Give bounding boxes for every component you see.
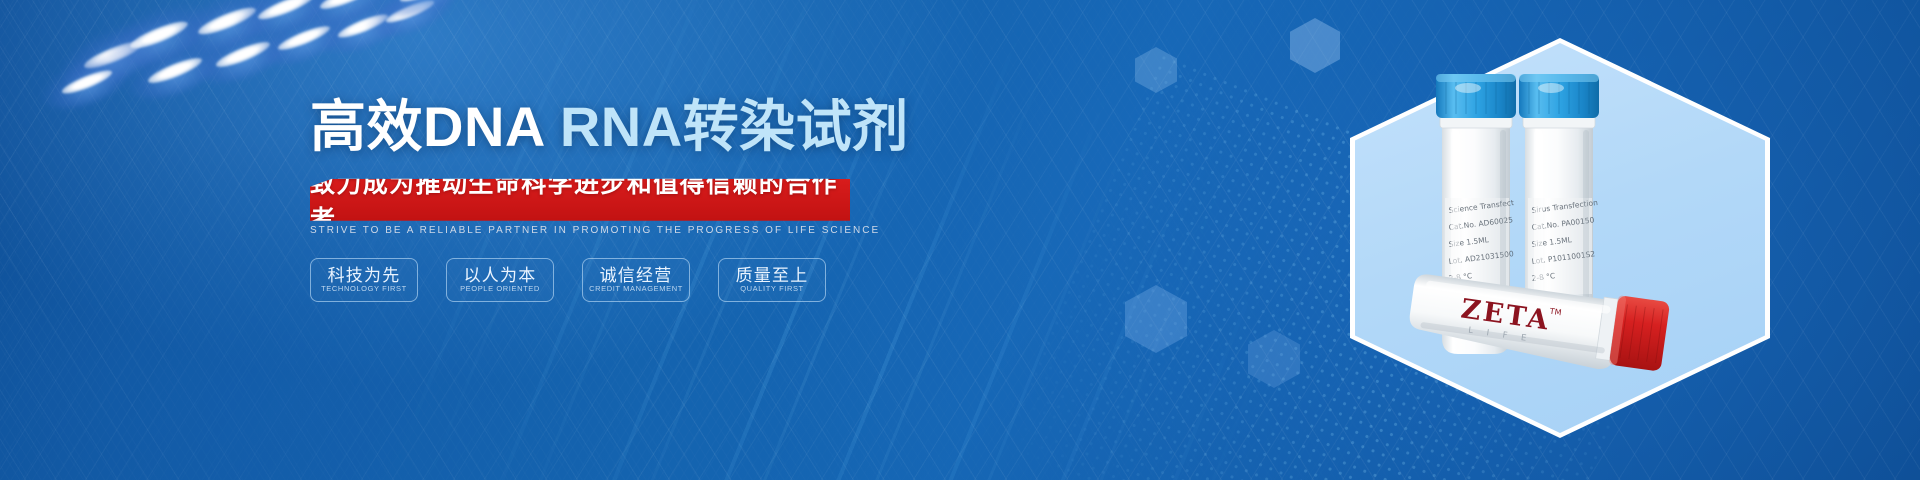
feature-pill-people-oriented[interactable]: 以人为本 PEOPLE ORIENTED (446, 258, 554, 302)
title-segment-white: 高效DNA (310, 95, 560, 158)
slogan-english: STRIVE TO BE A RELIABLE PARTNER IN PROMO… (310, 225, 850, 236)
slogan-ribbon: 致力成为推动生命科学进步和值得信赖的合作者 (310, 179, 850, 221)
feature-pill-label-cn: 科技为先 (328, 267, 401, 284)
banner-content: 高效DNA RNA转染试剂 致力成为推动生命科学进步和值得信赖的合作者 STRI… (310, 96, 930, 302)
feature-pill-label-cn: 诚信经营 (600, 267, 673, 284)
hexagon-decoration (1290, 18, 1340, 73)
feature-pill-credit-management[interactable]: 诚信经营 CREDIT MANAGEMENT (582, 258, 690, 302)
feature-pill-label-en: CREDIT MANAGEMENT (589, 285, 683, 293)
feature-pill-list: 科技为先 TECHNOLOGY FIRST 以人为本 PEOPLE ORIENT… (310, 258, 930, 302)
banner-title: 高效DNA RNA转染试剂 (310, 96, 930, 159)
title-segment-light: RNA转染试剂 (560, 95, 909, 158)
svg-text:TM: TM (1548, 307, 1562, 318)
feature-pill-label-en: PEOPLE ORIENTED (460, 285, 540, 293)
feature-pill-label-cn: 以人为本 (464, 267, 537, 284)
feature-pill-quality-first[interactable]: 质量至上 QUALITY FIRST (718, 258, 826, 302)
hexagon-decoration (1248, 330, 1300, 388)
feature-pill-label-en: QUALITY FIRST (740, 285, 804, 293)
product-vials-illustration: Science Transfect Cat.No. AD60025 Size 1… (1350, 38, 1770, 438)
product-image-panel: Science Transfect Cat.No. AD60025 Size 1… (1350, 38, 1770, 438)
promo-banner: Science Transfect Cat.No. AD60025 Size 1… (0, 0, 1920, 480)
feature-pill-technology-first[interactable]: 科技为先 TECHNOLOGY FIRST (310, 258, 418, 302)
feature-pill-label-en: TECHNOLOGY FIRST (321, 285, 407, 293)
hexagon-decoration (1125, 285, 1187, 353)
feature-pill-label-cn: 质量至上 (736, 267, 809, 284)
hexagon-decoration (1135, 47, 1177, 93)
